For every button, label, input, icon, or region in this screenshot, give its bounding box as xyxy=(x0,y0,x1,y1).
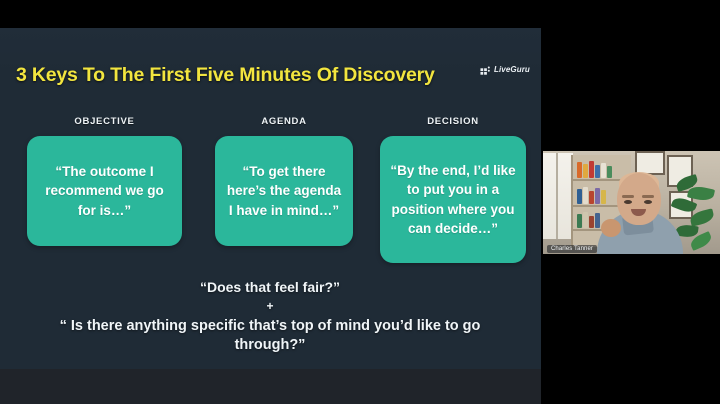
quote-card-decision: “By the end, I’d like to put you in a po… xyxy=(380,136,526,263)
column-header-objective: OBJECTIVE xyxy=(27,116,182,127)
liveguru-logo-icon xyxy=(480,64,491,75)
slide-title: 3 Keys To The First Five Minutes Of Disc… xyxy=(16,64,435,87)
window-backlight xyxy=(543,153,573,239)
person-head xyxy=(617,173,661,225)
column-objective: OBJECTIVE “The outcome I recommend we go… xyxy=(27,116,182,246)
video-call-stage: 3 Keys To The First Five Minutes Of Disc… xyxy=(0,0,720,404)
column-decision: DECISION “By the end, I’d like to put yo… xyxy=(380,116,526,263)
closing-question-one: “Does that feel fair?” xyxy=(40,278,500,296)
column-header-decision: DECISION xyxy=(380,116,526,127)
webcam-tile[interactable]: Charles Tanner xyxy=(543,145,720,260)
column-agenda: AGENDA “To get there here’s the agenda I… xyxy=(215,116,353,246)
closing-question-two: “ Is there anything specific that’s top … xyxy=(40,317,500,356)
brand-lockup: LiveGuru xyxy=(480,64,530,75)
meeting-lower-strip xyxy=(0,369,541,404)
webcam-video-frame: Charles Tanner xyxy=(543,145,720,260)
quote-card-objective: “The outcome I recommend we go for is…” xyxy=(27,136,182,246)
quote-card-agenda: “To get there here’s the agenda I have i… xyxy=(215,136,353,246)
participant-name-label: Charles Tanner xyxy=(547,245,597,253)
person-hand xyxy=(601,219,621,237)
column-header-agenda: AGENDA xyxy=(215,116,353,127)
screen-share-region[interactable]: 3 Keys To The First Five Minutes Of Disc… xyxy=(0,28,541,369)
closing-connector: + xyxy=(40,296,500,316)
closing-questions: “Does that feel fair?” + “ Is there anyt… xyxy=(40,278,500,356)
brand-name: LiveGuru xyxy=(494,65,530,74)
